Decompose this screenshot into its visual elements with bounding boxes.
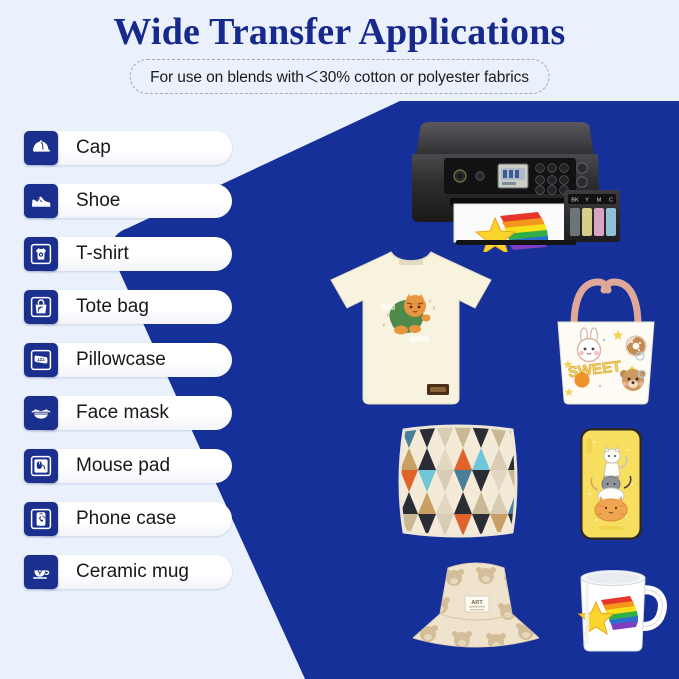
application-list: Cap Shoe (24, 131, 234, 608)
list-item-cap[interactable]: Cap (24, 131, 234, 165)
list-item-pill (42, 131, 232, 165)
bear-print-bucket-hat: ART (413, 552, 539, 660)
list-item-label: Mouse pad (76, 449, 170, 483)
svg-text:BK: BK (571, 198, 579, 204)
inkjet-printer: BKY MC (398, 112, 633, 252)
list-item-ceramic-mug[interactable]: Ceramic mug (24, 555, 234, 589)
list-item-label: Ceramic mug (76, 555, 189, 589)
list-item-label: T-shirt (76, 237, 129, 271)
list-item-label: Tote bag (76, 290, 149, 324)
infographic-canvas: Wide Transfer Applications For use on bl… (0, 0, 679, 679)
list-item-tshirt[interactable]: T-shirt (24, 237, 234, 271)
list-item-shoe[interactable]: Shoe (24, 184, 234, 218)
hat-label-text: ART (471, 600, 483, 606)
tote-bag-icon (24, 290, 58, 324)
page-title: Wide Transfer Applications (0, 10, 679, 54)
pillowcase-icon: zZz (24, 343, 58, 377)
cream-t-shirt: pp pp (323, 246, 499, 412)
phone-case-icon (24, 502, 58, 536)
list-item-tote-bag[interactable]: Tote bag (24, 290, 234, 324)
list-item-label: Shoe (76, 184, 120, 218)
svg-text:M: M (597, 198, 602, 204)
list-item-mouse-pad[interactable]: Mouse pad (24, 449, 234, 483)
svg-text:zZz: zZz (37, 357, 45, 362)
shoe-icon (24, 184, 58, 218)
list-item-label: Face mask (76, 396, 169, 430)
white-ceramic-mug (565, 558, 673, 660)
mouse-pad-icon (24, 449, 58, 483)
list-item-label: Cap (76, 131, 111, 165)
list-item-pill (42, 237, 232, 271)
tshirt-icon (24, 237, 58, 271)
list-item-pillowcase[interactable]: zZz Pillowcase (24, 343, 234, 377)
list-item-face-mask[interactable]: Face mask (24, 396, 234, 430)
triangle-pattern-pillow (388, 418, 528, 544)
subtitle-badge: For use on blends with＜30% cotton or pol… (129, 59, 550, 94)
svg-text:C: C (609, 198, 613, 204)
ceramic-mug-icon (24, 555, 58, 589)
list-item-label: Pillowcase (76, 343, 166, 377)
face-mask-icon (24, 396, 58, 430)
canvas-tote-bag: SWEET (534, 278, 674, 408)
list-item-phone-case[interactable]: Phone case (24, 502, 234, 536)
cap-icon (24, 131, 58, 165)
list-item-label: Phone case (76, 502, 176, 536)
list-item-pill (42, 184, 232, 218)
subtitle-text: For use on blends with＜30% cotton or pol… (150, 65, 529, 87)
yellow-phone-case (572, 424, 652, 544)
svg-text:Y: Y (585, 198, 589, 204)
